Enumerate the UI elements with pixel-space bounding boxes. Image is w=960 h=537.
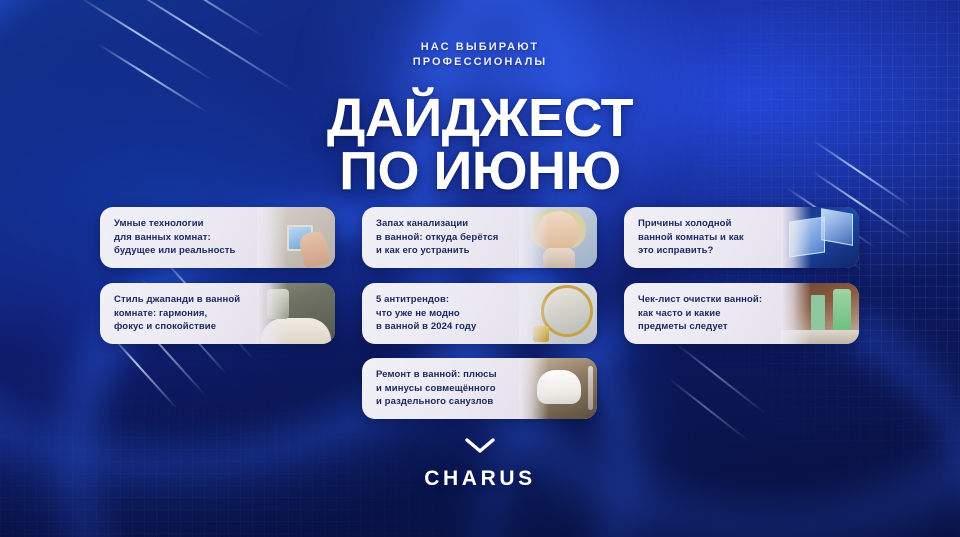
article-card-title: Чек-лист очистки ванной: как часто и как… <box>624 293 768 334</box>
article-card[interactable]: Ремонт в ванной: плюсы и минусы совмещён… <box>362 358 597 419</box>
woman-holding-nose-photo <box>519 207 597 268</box>
brand-logo: CHARUS <box>0 467 960 491</box>
article-card-title: 5 антитрендов: что уже не модно в ванной… <box>362 293 482 334</box>
article-card[interactable]: Причины холодной ванной комнаты и как эт… <box>624 207 859 268</box>
article-card-title: Умные технологии для ванных комнат: буду… <box>100 217 241 258</box>
ice-cubes-photo <box>781 207 859 268</box>
cleaning-sprays-photo <box>781 283 859 344</box>
article-card-title: Причины холодной ванной комнаты и как эт… <box>624 217 750 258</box>
slide-footer: CHARUS <box>0 438 960 491</box>
article-card[interactable]: Запах канализации в ванной: откуда берёт… <box>362 207 597 268</box>
digest-slide: НАС ВЫБИРАЮТ ПРОФЕССИОНАЛЫ ДАЙДЖЕСТ ПО И… <box>0 0 960 537</box>
article-card[interactable]: 5 антитрендов: что уже не модно в ванной… <box>362 283 597 344</box>
article-card[interactable]: Чек-лист очистки ванной: как часто и как… <box>624 283 859 344</box>
article-card[interactable]: Умные технологии для ванных комнат: буду… <box>100 207 335 268</box>
article-card-title: Запах канализации в ванной: откуда берёт… <box>362 217 504 258</box>
thermostat-photo <box>257 207 335 268</box>
article-card[interactable]: Стиль джапанди в ванной комнате: гармони… <box>100 283 335 344</box>
chevron-down-icon <box>465 438 495 453</box>
article-card-title: Стиль джапанди в ванной комнате: гармони… <box>100 293 246 334</box>
toilet-photo <box>519 358 597 419</box>
japandi-bathroom-photo <box>257 283 335 344</box>
article-card-title: Ремонт в ванной: плюсы и минусы совмещён… <box>362 368 503 409</box>
round-mirror-sink-photo <box>519 283 597 344</box>
